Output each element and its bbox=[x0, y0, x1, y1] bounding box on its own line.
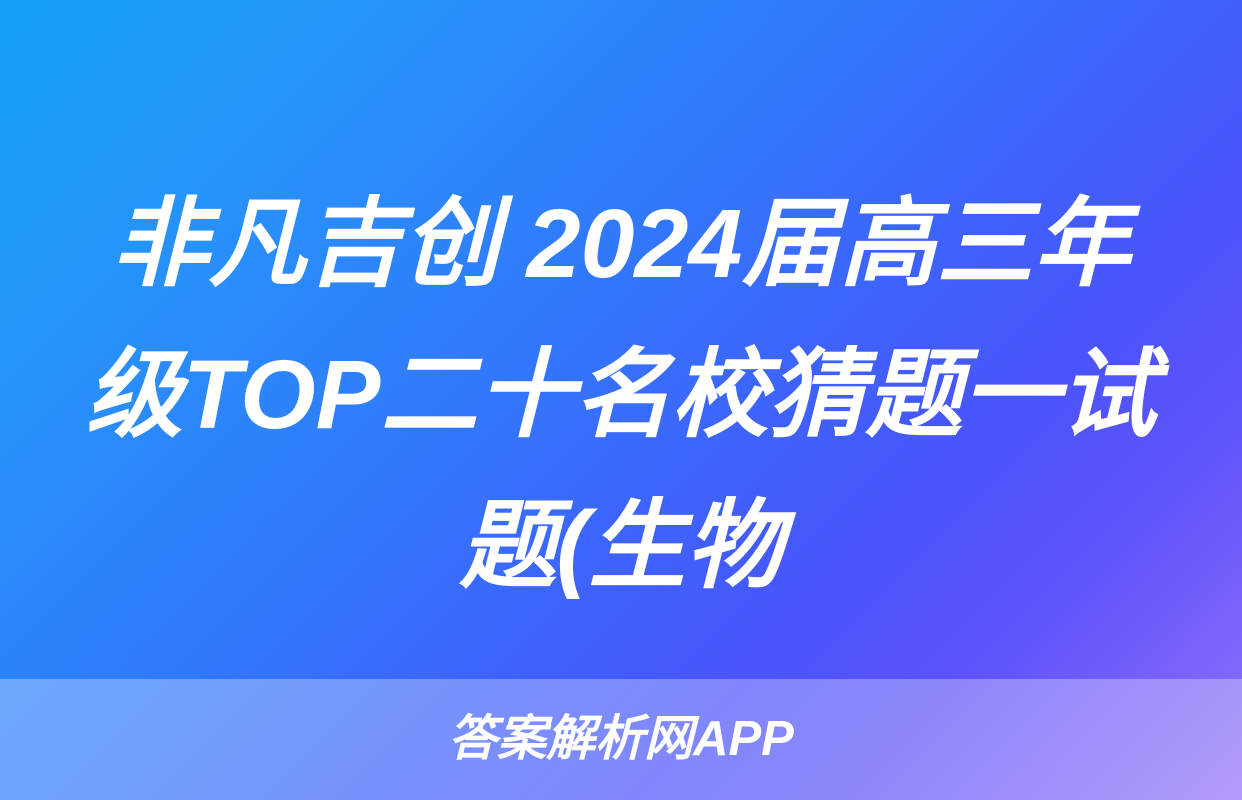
share-card: 非凡吉创 2024届高三年 级TOP二十名校猜题一试 题(生物 答案解析网APP bbox=[0, 0, 1242, 800]
title-line-2: 级TOP二十名校猜题一试 bbox=[60, 319, 1182, 470]
watermark-band: 答案解析网APP bbox=[0, 679, 1242, 800]
page-title: 非凡吉创 2024届高三年 级TOP二十名校猜题一试 题(生物 bbox=[60, 168, 1182, 621]
title-line-3: 题(生物 bbox=[60, 470, 1182, 621]
title-line-1: 非凡吉创 2024届高三年 bbox=[60, 168, 1182, 319]
watermark-label: 答案解析网APP bbox=[448, 715, 794, 764]
